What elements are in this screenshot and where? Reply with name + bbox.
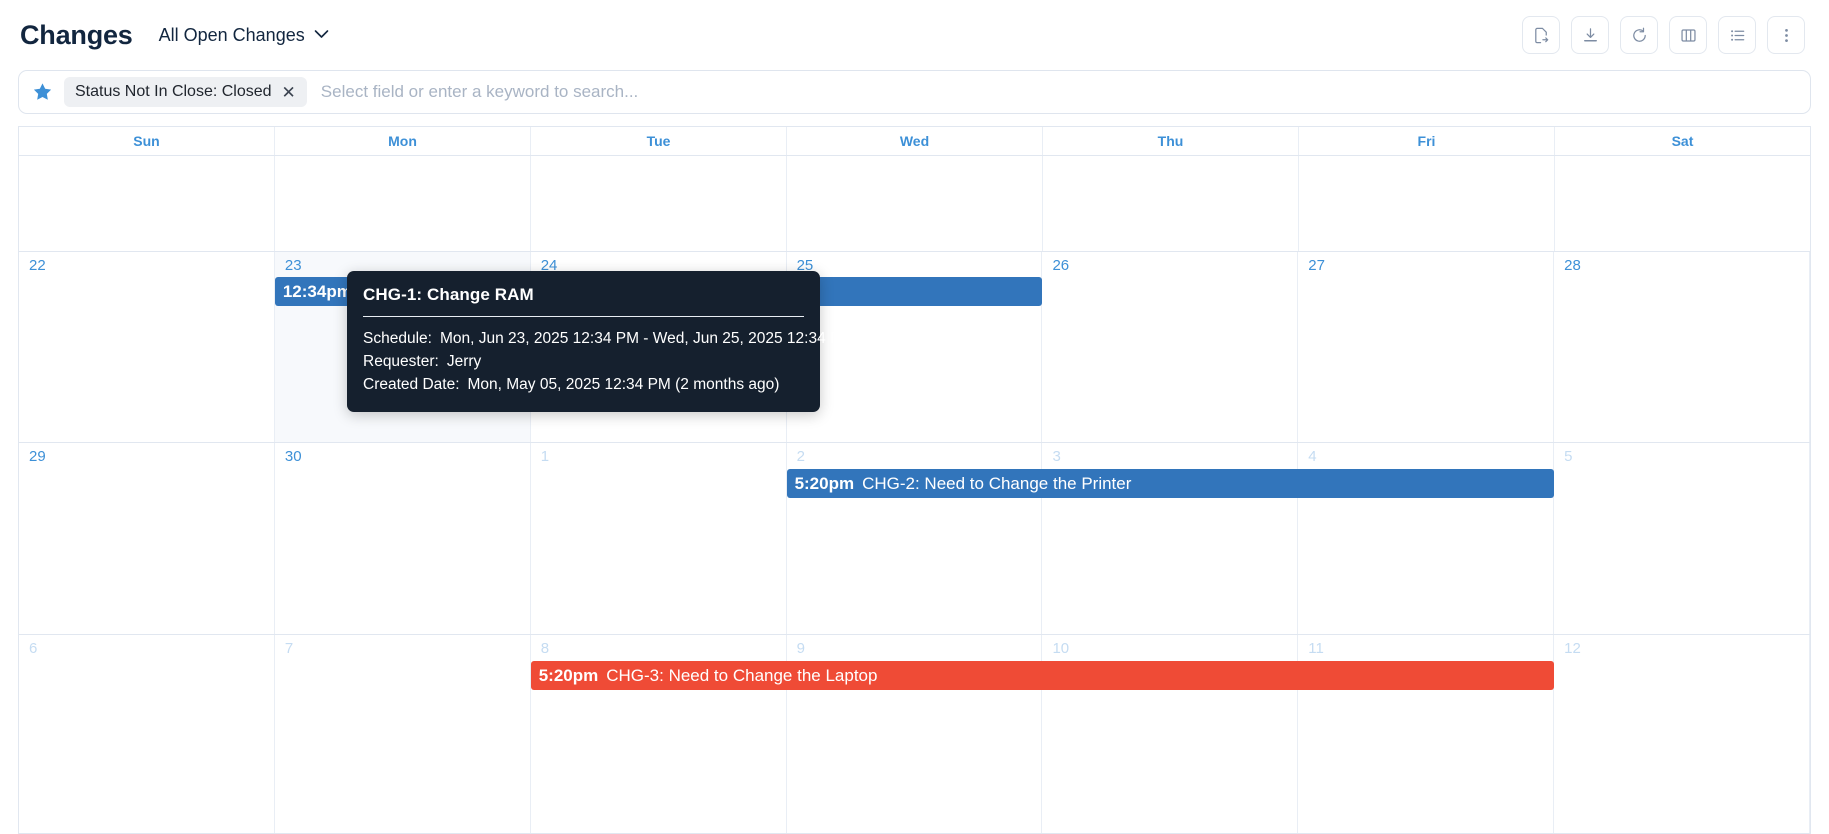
calendar-day-cell[interactable]: 30 <box>275 443 531 634</box>
view-selector-label: All Open Changes <box>159 25 305 46</box>
day-header-sun: Sun <box>19 127 275 155</box>
day-number: 8 <box>541 641 786 656</box>
tooltip-row-created-date: Created Date: Mon, May 05, 2025 12:34 PM… <box>363 373 804 396</box>
day-number: 25 <box>797 258 1042 273</box>
event-tooltip: CHG-1: Change RAM Schedule: Mon, Jun 23,… <box>347 271 820 412</box>
search-bar-container: Status Not In Close: Closed ✕ <box>0 70 1829 126</box>
day-number: 29 <box>29 449 274 464</box>
day-number: 1 <box>541 449 786 464</box>
columns-icon[interactable] <box>1669 16 1707 54</box>
calendar-day-cell[interactable]: 22 <box>19 252 275 442</box>
day-number: 27 <box>1308 258 1553 273</box>
export-file-icon[interactable] <box>1522 16 1560 54</box>
calendar-day-cell[interactable] <box>1555 156 1810 251</box>
day-header-mon: Mon <box>275 127 531 155</box>
day-number: 4 <box>1308 449 1553 464</box>
filter-chip-label: Status Not In Close: Closed <box>75 83 272 101</box>
filter-chip[interactable]: Status Not In Close: Closed ✕ <box>64 77 307 107</box>
event-title: CHG-2: Need to Change the Printer <box>862 474 1131 494</box>
day-header-wed: Wed <box>787 127 1043 155</box>
calendar-day-cell[interactable] <box>1043 156 1299 251</box>
star-icon[interactable] <box>31 81 54 103</box>
tooltip-value: Mon, Jun 23, 2025 12:34 PM - Wed, Jun 25… <box>440 328 853 349</box>
tooltip-label: Schedule: <box>363 328 432 349</box>
event-title: CHG-3: Need to Change the Laptop <box>606 666 877 686</box>
page-header: Changes All Open Changes <box>0 0 1829 70</box>
calendar-week-row: 6 7 8 9 10 11 12 5:20pm CHG-3: Need to C… <box>19 635 1810 834</box>
close-icon[interactable]: ✕ <box>282 84 296 101</box>
day-number: 28 <box>1564 258 1809 273</box>
page-title: Changes <box>20 20 133 51</box>
changes-calendar-page: Changes All Open Changes <box>0 0 1829 834</box>
tooltip-value: Jerry <box>447 351 481 372</box>
search-bar[interactable]: Status Not In Close: Closed ✕ <box>18 70 1811 114</box>
day-number: 7 <box>285 641 530 656</box>
tooltip-label: Created Date: <box>363 374 460 395</box>
day-number: 30 <box>285 449 530 464</box>
calendar-day-cell[interactable] <box>275 156 531 251</box>
calendar-day-cell[interactable] <box>531 156 787 251</box>
tooltip-title: CHG-1: Change RAM <box>363 285 804 305</box>
tooltip-row-requester: Requester: Jerry <box>363 350 804 373</box>
day-number: 3 <box>1052 449 1297 464</box>
day-number: 6 <box>29 641 274 656</box>
calendar-day-cell[interactable]: 29 <box>19 443 275 634</box>
tooltip-value: Mon, May 05, 2025 12:34 PM (2 months ago… <box>468 374 780 395</box>
calendar-week-row: 22 23 24 25 26 27 28 12:34pm CHG-1: Chan… <box>19 252 1810 443</box>
calendar-day-cell[interactable]: 12 <box>1554 635 1810 833</box>
view-selector[interactable]: All Open Changes <box>159 25 329 46</box>
day-number: 2 <box>797 449 1042 464</box>
day-header-fri: Fri <box>1299 127 1555 155</box>
event-time: 5:20pm <box>539 666 599 686</box>
calendar-day-cell[interactable]: 5 <box>1554 443 1810 634</box>
refresh-icon[interactable] <box>1620 16 1658 54</box>
tooltip-row-schedule: Schedule: Mon, Jun 23, 2025 12:34 PM - W… <box>363 327 804 350</box>
day-number: 10 <box>1052 641 1297 656</box>
event-time: 12:34pm <box>283 282 352 302</box>
day-header-sat: Sat <box>1555 127 1810 155</box>
calendar-day-cell[interactable]: 26 <box>1042 252 1298 442</box>
calendar-day-cell[interactable]: 6 <box>19 635 275 833</box>
calendar-day-cell[interactable]: 1 <box>531 443 787 634</box>
day-number: 26 <box>1052 258 1297 273</box>
calendar-day-cell[interactable] <box>1299 156 1555 251</box>
calendar-day-headers: Sun Mon Tue Wed Thu Fri Sat <box>19 127 1810 156</box>
calendar-event[interactable]: 5:20pm CHG-3: Need to Change the Laptop <box>531 661 1554 690</box>
calendar-grid: Sun Mon Tue Wed Thu Fri Sat 22 23 24 25 … <box>18 126 1811 834</box>
day-number: 11 <box>1308 641 1553 656</box>
download-icon[interactable] <box>1571 16 1609 54</box>
more-vertical-icon[interactable] <box>1767 16 1805 54</box>
day-header-thu: Thu <box>1043 127 1299 155</box>
day-header-tue: Tue <box>531 127 787 155</box>
calendar-day-cell[interactable] <box>19 156 275 251</box>
list-icon[interactable] <box>1718 16 1756 54</box>
calendar-week-row <box>19 156 1810 252</box>
event-time: 5:20pm <box>795 474 855 494</box>
calendar-week-row: 29 30 1 2 3 4 5 5:20pm CHG-2: Need to Ch… <box>19 443 1810 635</box>
calendar-event[interactable]: 5:20pm CHG-2: Need to Change the Printer <box>787 469 1555 498</box>
day-number: 9 <box>797 641 1042 656</box>
day-number: 5 <box>1564 449 1809 464</box>
search-input[interactable] <box>317 82 1798 102</box>
tooltip-label: Requester: <box>363 351 439 372</box>
day-number: 22 <box>29 258 274 273</box>
calendar-day-cell[interactable] <box>787 156 1043 251</box>
tooltip-divider <box>363 316 804 317</box>
calendar-day-cell[interactable]: 28 <box>1554 252 1810 442</box>
chevron-down-icon <box>314 26 329 44</box>
header-toolbar <box>1522 16 1805 54</box>
calendar-day-cell[interactable]: 7 <box>275 635 531 833</box>
day-number: 12 <box>1564 641 1809 656</box>
calendar-day-cell[interactable]: 27 <box>1298 252 1554 442</box>
